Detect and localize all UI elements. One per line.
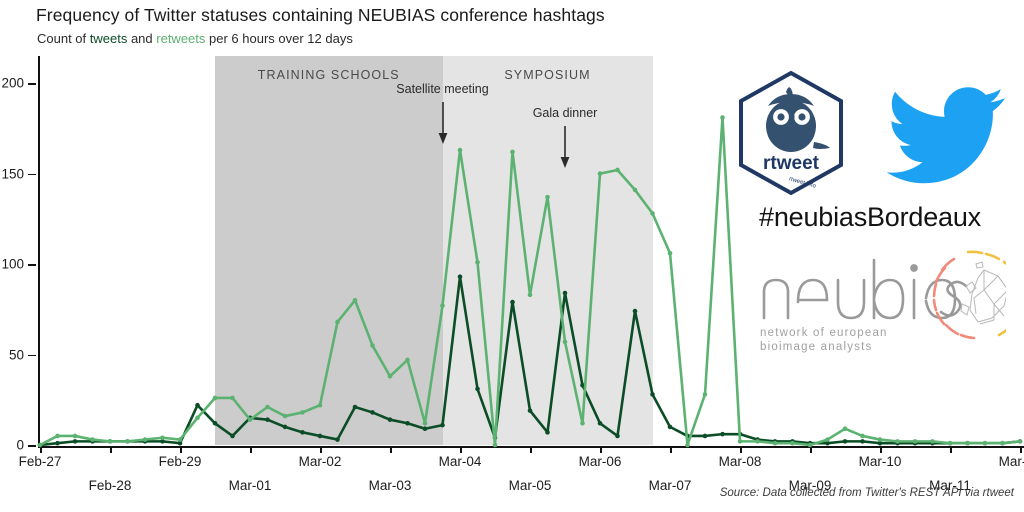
data-point-retweets <box>1000 441 1005 446</box>
data-point-tweets <box>528 408 533 413</box>
branding-panel: rtweet rtweet.info #neubiasBordeaux netw… <box>716 62 1024 352</box>
data-point-retweets <box>913 439 918 444</box>
data-point-retweets <box>370 343 375 348</box>
data-point-retweets <box>90 437 95 442</box>
data-point-tweets <box>563 291 568 296</box>
data-point-retweets <box>843 426 848 431</box>
neubias-tagline-line2: bioimage analysts <box>760 341 872 353</box>
data-point-tweets <box>265 417 270 422</box>
source-caption: Source: Data collected from Twitter's RE… <box>720 487 1014 499</box>
subtitle-mid: and <box>127 31 156 46</box>
rtweet-logo-icon: rtweet rtweet.info <box>734 70 848 196</box>
data-point-retweets <box>143 437 148 442</box>
data-point-retweets <box>948 441 953 446</box>
data-point-retweets <box>598 171 603 176</box>
data-point-retweets <box>860 434 865 439</box>
data-point-retweets <box>825 437 830 442</box>
data-point-retweets <box>633 188 638 193</box>
y-axis-label-0: 0 <box>16 438 24 453</box>
data-point-tweets <box>195 403 200 408</box>
data-point-tweets <box>440 423 445 428</box>
subtitle-retweets-word: retweets <box>156 31 205 46</box>
subtitle-tweets-word: tweets <box>90 31 128 46</box>
data-point-retweets <box>353 298 358 303</box>
data-point-retweets <box>615 168 620 173</box>
rtweet-logo-text: rtweet <box>763 153 820 174</box>
x-axis-label-mar-08: Mar-08 <box>719 454 762 469</box>
y-axis-label-4: 200 <box>1 76 24 91</box>
data-point-retweets <box>545 195 550 200</box>
data-point-retweets <box>405 358 410 363</box>
hashtag-label: #neubiasBordeaux <box>716 202 1024 233</box>
data-point-retweets <box>930 439 935 444</box>
x-axis-tick <box>320 446 322 453</box>
data-point-retweets <box>650 211 655 216</box>
data-point-retweets <box>283 414 288 419</box>
data-point-retweets <box>738 439 743 444</box>
x-axis-label-mar-05: Mar-05 <box>509 478 552 493</box>
x-axis-tick <box>180 446 182 453</box>
y-axis-tick <box>28 83 36 85</box>
x-axis-label-mar-12: Mar-12 <box>999 454 1024 469</box>
data-point-retweets <box>318 403 323 408</box>
data-point-retweets <box>335 320 340 325</box>
data-point-retweets <box>563 340 568 345</box>
y-axis-label-1: 50 <box>9 347 24 362</box>
data-point-retweets <box>160 435 165 440</box>
y-axis-tick <box>28 174 36 176</box>
x-axis-label-feb-28: Feb-28 <box>89 478 132 493</box>
data-point-retweets <box>528 293 533 298</box>
data-point-tweets <box>73 439 78 444</box>
data-point-tweets <box>720 432 725 437</box>
data-point-tweets <box>335 437 340 442</box>
y-axis-tick <box>28 355 36 357</box>
twitter-bird-icon <box>886 84 1008 184</box>
data-point-tweets <box>650 392 655 397</box>
y-axis-label-2: 100 <box>1 257 24 272</box>
x-axis-label-feb-27: Feb-27 <box>19 454 62 469</box>
data-point-tweets <box>633 309 638 314</box>
x-axis-tick <box>600 446 602 453</box>
x-axis-label-mar-07: Mar-07 <box>649 478 692 493</box>
x-axis-tick <box>460 446 462 453</box>
data-point-tweets <box>283 425 288 430</box>
data-point-retweets <box>685 443 690 448</box>
x-axis-label-mar-02: Mar-02 <box>299 454 342 469</box>
neubias-globe-mark <box>934 252 1006 338</box>
x-axis-tick <box>740 446 742 453</box>
data-point-tweets <box>843 439 848 444</box>
data-point-retweets <box>808 443 813 448</box>
data-point-retweets <box>580 421 585 426</box>
data-point-retweets <box>230 396 235 401</box>
subtitle-pre: Count of <box>37 31 90 46</box>
data-point-retweets <box>790 441 795 446</box>
data-point-tweets <box>458 274 463 279</box>
data-point-tweets <box>213 421 218 426</box>
y-axis-label-3: 150 <box>1 166 24 181</box>
data-point-retweets <box>178 437 183 442</box>
x-axis-label-feb-29: Feb-29 <box>159 454 202 469</box>
annotation-arrow-0 <box>436 102 450 151</box>
data-point-tweets <box>300 430 305 435</box>
data-point-retweets <box>440 303 445 308</box>
data-point-retweets <box>878 437 883 442</box>
data-point-retweets <box>493 443 498 448</box>
x-axis-label-mar-03: Mar-03 <box>369 478 412 493</box>
data-point-tweets <box>370 410 375 415</box>
x-axis-tick <box>1020 446 1022 453</box>
data-point-retweets <box>423 421 428 426</box>
data-point-retweets <box>55 434 60 439</box>
x-axis-label-mar-10: Mar-10 <box>859 454 902 469</box>
data-point-tweets <box>388 417 393 422</box>
data-point-retweets <box>458 148 463 153</box>
data-point-tweets <box>598 421 603 426</box>
data-point-tweets <box>353 405 358 410</box>
page-title: Frequency of Twitter statuses containing… <box>36 5 605 26</box>
data-point-tweets <box>860 439 865 444</box>
x-axis-tick <box>530 446 532 453</box>
data-point-tweets <box>55 441 60 446</box>
data-point-retweets <box>668 251 673 256</box>
x-axis-tick <box>880 446 882 453</box>
annotation-label-1: Gala dinner <box>533 106 598 120</box>
data-point-tweets <box>230 434 235 439</box>
data-point-retweets <box>195 416 200 421</box>
x-axis-tick <box>110 446 112 453</box>
data-point-retweets <box>895 439 900 444</box>
data-point-retweets <box>1018 439 1023 444</box>
x-axis-label-mar-04: Mar-04 <box>439 454 482 469</box>
data-point-retweets <box>755 439 760 444</box>
annotation-arrow-1 <box>558 126 572 175</box>
neubias-logo-icon: network of european bioimage analysts <box>746 240 1006 360</box>
data-point-retweets <box>265 405 270 410</box>
data-point-tweets <box>545 430 550 435</box>
data-point-tweets <box>668 425 673 430</box>
y-axis-tick <box>28 264 36 266</box>
data-point-retweets <box>213 396 218 401</box>
x-axis-tick <box>390 446 392 453</box>
data-point-tweets <box>475 387 480 392</box>
data-point-tweets <box>423 426 428 431</box>
data-point-tweets <box>510 300 515 305</box>
y-axis-tick <box>28 445 36 447</box>
data-point-tweets <box>318 434 323 439</box>
data-point-retweets <box>388 374 393 379</box>
data-point-tweets <box>615 434 620 439</box>
x-axis-label-mar-01: Mar-01 <box>229 478 272 493</box>
subtitle-post: per 6 hours over 12 days <box>205 31 352 46</box>
data-point-retweets <box>108 439 113 444</box>
x-axis-label-mar-06: Mar-06 <box>579 454 622 469</box>
x-axis-tick <box>670 446 672 453</box>
data-point-retweets <box>983 441 988 446</box>
chart-subtitle: Count of tweets and retweets per 6 hours… <box>37 31 353 46</box>
data-point-tweets <box>405 421 410 426</box>
data-point-retweets <box>773 441 778 446</box>
x-axis-tick <box>950 446 952 453</box>
data-point-tweets <box>703 434 708 439</box>
data-point-retweets <box>248 417 253 422</box>
neubias-tagline-line1: network of european <box>760 327 888 339</box>
data-point-retweets <box>73 434 78 439</box>
data-point-retweets <box>475 260 480 265</box>
data-point-retweets <box>125 439 130 444</box>
x-axis-tick <box>250 446 252 453</box>
annotation-label-0: Satellite meeting <box>396 82 488 96</box>
data-point-retweets <box>965 441 970 446</box>
data-point-retweets <box>300 410 305 415</box>
data-point-retweets <box>38 443 43 448</box>
data-point-retweets <box>510 150 515 155</box>
data-point-retweets <box>703 392 708 397</box>
